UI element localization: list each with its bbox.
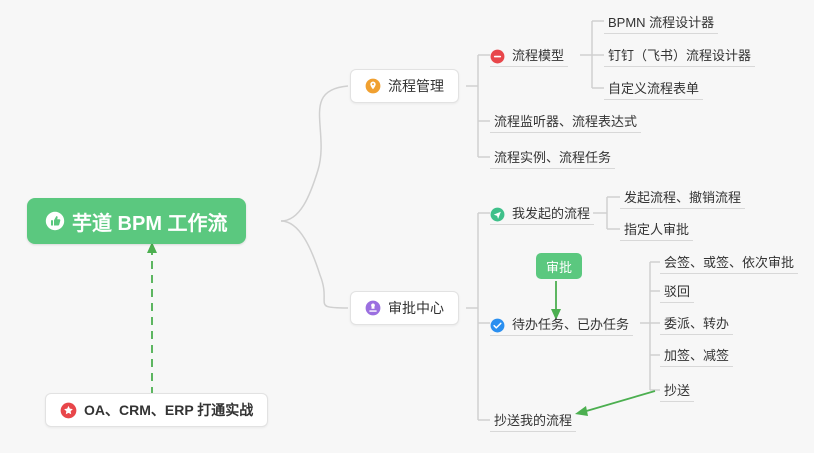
branch-node-label: 流程管理	[388, 76, 444, 96]
node-dingtalk-designer[interactable]: 钉钉（飞书）流程设计器	[604, 41, 755, 67]
minus-circle-icon	[490, 49, 505, 64]
node-label: 委派、转办	[664, 313, 729, 332]
thumbs-up-circle-icon	[45, 211, 65, 231]
node-label: 自定义流程表单	[608, 78, 699, 97]
mindmap-canvas: 芋道 BPM 工作流 流程管理 流程模型 BPMN 流程设计器 钉钉（飞书）流程…	[0, 0, 814, 453]
node-label: 我发起的流程	[512, 203, 590, 222]
node-label: 加签、减签	[664, 345, 729, 364]
node-bpmn-designer[interactable]: BPMN 流程设计器	[604, 8, 718, 34]
node-listener-expression[interactable]: 流程监听器、流程表达式	[490, 107, 641, 133]
branch-node-approval-center[interactable]: 审批中心	[350, 291, 459, 325]
node-my-started-processes[interactable]: 我发起的流程	[490, 199, 594, 225]
node-assign-approver[interactable]: 指定人审批	[620, 215, 693, 241]
node-add-remove-sign[interactable]: 加签、减签	[660, 341, 733, 367]
node-delegate-transfer[interactable]: 委派、转办	[660, 309, 733, 335]
branch-node-process-management[interactable]: 流程管理	[350, 69, 459, 103]
node-cc[interactable]: 抄送	[660, 376, 694, 402]
stamp-circle-icon	[365, 300, 381, 316]
node-label: 指定人审批	[624, 219, 689, 238]
node-label: 发起流程、撤销流程	[624, 187, 741, 206]
node-label: 流程模型	[512, 45, 564, 64]
note-node-integration[interactable]: OA、CRM、ERP 打通实战	[45, 393, 268, 427]
node-countersign[interactable]: 会签、或签、依次审批	[660, 248, 798, 274]
node-start-cancel-process[interactable]: 发起流程、撤销流程	[620, 183, 745, 209]
branch-node-label: 审批中心	[388, 298, 444, 318]
check-circle-icon	[490, 318, 505, 333]
node-label: 抄送	[664, 380, 690, 399]
node-cc-to-me[interactable]: 抄送我的流程	[490, 406, 576, 432]
node-process-model[interactable]: 流程模型	[490, 41, 568, 67]
node-label: 待办任务、已办任务	[512, 314, 629, 333]
node-label: 流程监听器、流程表达式	[494, 111, 637, 130]
star-circle-icon	[60, 402, 77, 419]
node-instance-task[interactable]: 流程实例、流程任务	[490, 143, 615, 169]
highlight-tag-approval[interactable]: 审批	[536, 253, 582, 279]
node-label: BPMN 流程设计器	[608, 12, 714, 31]
node-custom-form[interactable]: 自定义流程表单	[604, 74, 703, 100]
root-node-label: 芋道 BPM 工作流	[72, 207, 228, 236]
node-label: 驳回	[664, 281, 690, 300]
note-label: OA、CRM、ERP 打通实战	[84, 400, 253, 420]
location-pin-circle-icon	[365, 78, 381, 94]
tag-label: 审批	[546, 257, 572, 276]
node-label: 会签、或签、依次审批	[664, 252, 794, 271]
node-reject[interactable]: 驳回	[660, 277, 694, 303]
root-node[interactable]: 芋道 BPM 工作流	[27, 198, 246, 244]
node-label: 流程实例、流程任务	[494, 147, 611, 166]
send-circle-icon	[490, 207, 505, 222]
node-label: 钉钉（飞书）流程设计器	[608, 45, 751, 64]
node-label: 抄送我的流程	[494, 410, 572, 429]
node-todo-done-tasks[interactable]: 待办任务、已办任务	[490, 310, 633, 336]
